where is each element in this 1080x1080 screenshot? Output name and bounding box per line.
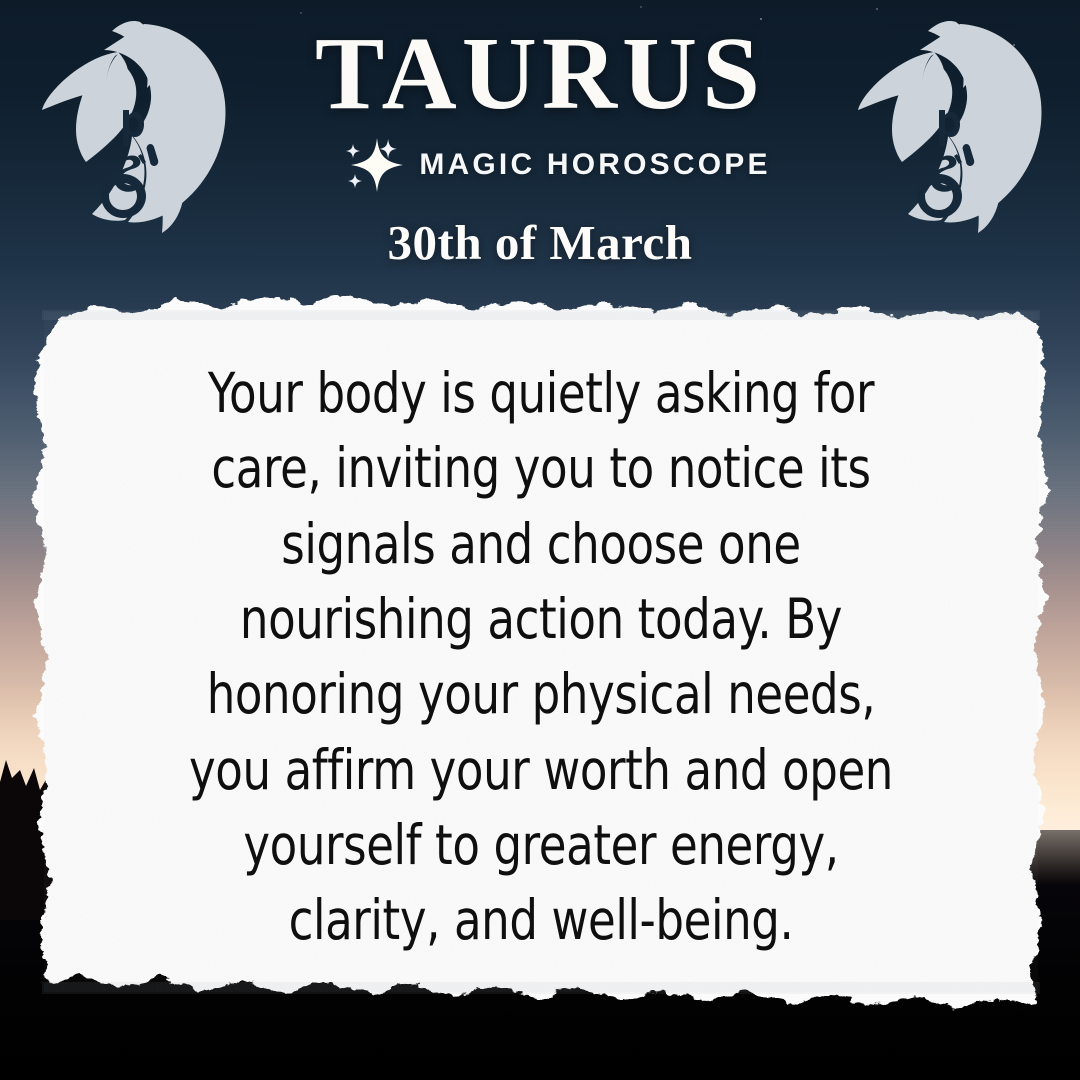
page-title: TAURUS — [0, 0, 1080, 126]
brand-row: MAGIC HOROSCOPE — [0, 134, 1080, 196]
four-point-star-sparkle-icon — [335, 134, 409, 196]
header: TAURUS MAGIC HOROSCOPE 30t — [0, 0, 1080, 280]
brand-subtitle: MAGIC HOROSCOPE — [419, 148, 770, 182]
horoscope-body-text: Your body is quietly asking for care, in… — [168, 356, 914, 959]
horoscope-date: 30th of March — [0, 214, 1080, 271]
torn-paper-card: Your body is quietly asking for care, in… — [26, 282, 1056, 1022]
horoscope-card: TAURUS MAGIC HOROSCOPE 30t — [0, 0, 1080, 1080]
